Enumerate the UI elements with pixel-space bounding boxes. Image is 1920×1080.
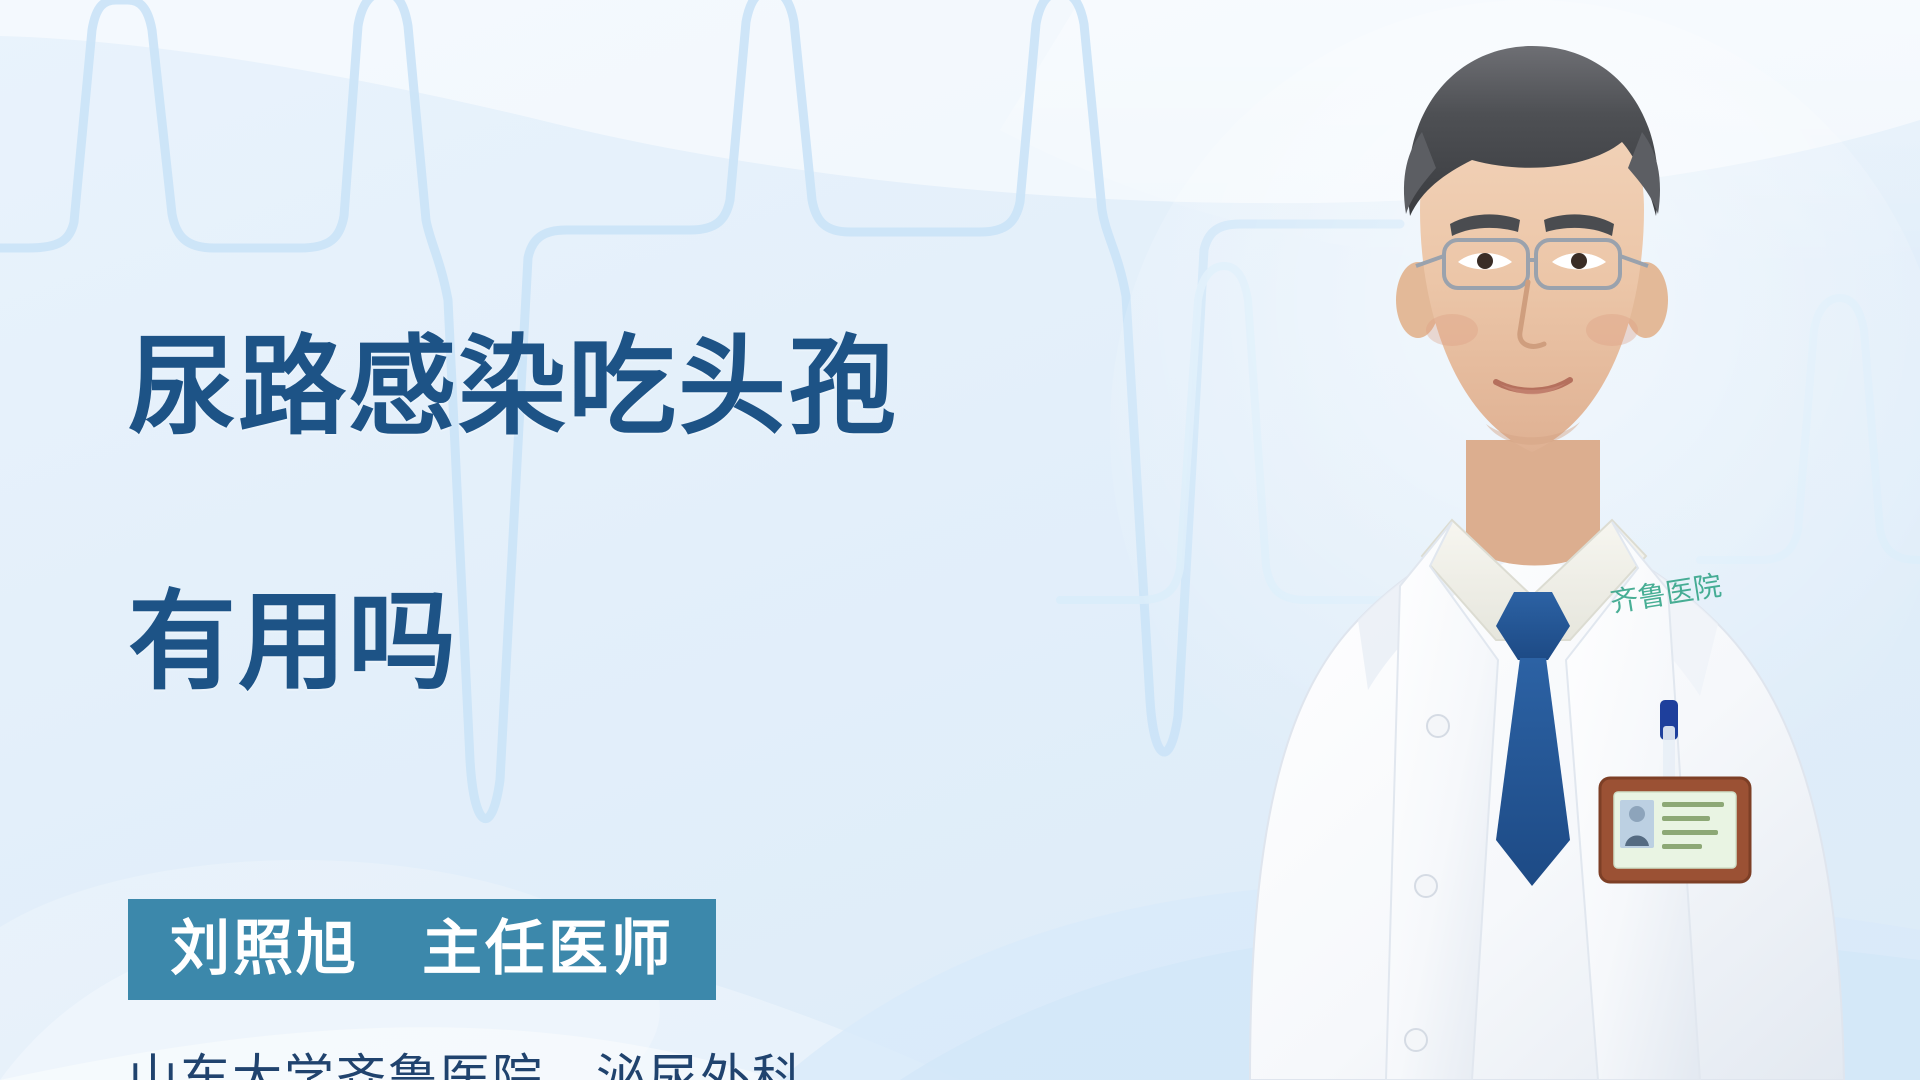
coat-button (1415, 875, 1437, 897)
coat-button (1427, 715, 1449, 737)
cheek-left (1426, 314, 1478, 346)
medical-video-card: 齐鲁医院 (0, 0, 1920, 1080)
badge-strap (1663, 726, 1675, 782)
page-title: 尿路感染吃头孢 有用吗 (128, 196, 1128, 833)
doctor-name-badge: 刘照旭 主任医师 (128, 899, 716, 1000)
title-line-1: 尿路感染吃头孢 (128, 323, 1128, 450)
doctor-affiliation: 山东大学齐鲁医院 泌尿外科 (128, 1038, 1128, 1080)
pupil-right (1571, 253, 1587, 269)
neck (1466, 440, 1600, 566)
text-content: 尿路感染吃头孢 有用吗 刘照旭 主任医师 山东大学齐鲁医院 泌尿外科 (128, 196, 1128, 1080)
pupil-left (1477, 253, 1493, 269)
doctor-portrait: 齐鲁医院 (1100, 0, 1920, 1080)
cheek-right (1586, 314, 1638, 346)
coat-button (1405, 1029, 1427, 1051)
title-line-2: 有用吗 (128, 578, 1128, 705)
doctor-portrait-illustration: 齐鲁医院 (1100, 0, 1920, 1080)
id-badge-photo-head (1629, 806, 1645, 822)
